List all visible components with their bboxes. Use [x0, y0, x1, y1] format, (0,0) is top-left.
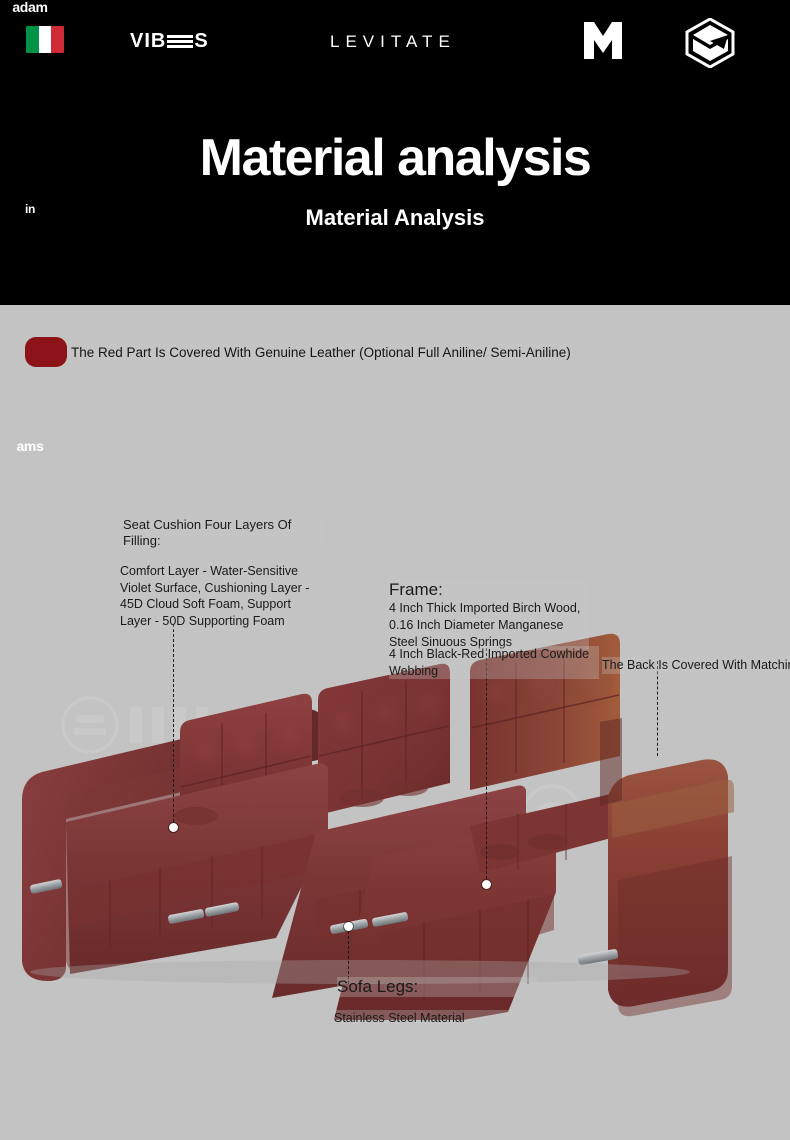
callout-dot-legs — [344, 922, 353, 931]
annotation-sofa-legs-heading-text: Sofa Legs: — [337, 977, 537, 997]
legend-label: The Red Part Is Covered With Genuine Lea… — [69, 344, 573, 361]
annotation-sofa-legs-body-text: Stainless Steel Material — [334, 1010, 534, 1027]
callout-dot-cushion — [169, 823, 178, 832]
annotation-sofa-legs: Sofa Legs: — [337, 977, 537, 997]
annotation-seat-cushion-body: Comfort Layer - Water-Sensitive Violet S… — [120, 563, 312, 630]
annotation-back-covering-text: The Back Is Covered With Matching — [602, 657, 790, 674]
annotation-webbing: 4 Inch Black-Red Imported Cowhide Webbin… — [389, 646, 599, 679]
italy-flag-icon — [26, 26, 64, 53]
leader-line-back — [657, 661, 658, 756]
adam-logo-line2: in — [0, 203, 60, 439]
annotation-frame: Frame: 4 Inch Thick Imported Birch Wood,… — [389, 580, 589, 650]
material-analysis-page: VIB S LEVITATE adam in — [0, 0, 790, 1140]
annotation-frame-body-text: 4 Inch Thick Imported Birch Wood, 0.16 I… — [389, 600, 589, 650]
vibes-logo-text-left: VIB — [130, 30, 166, 53]
leader-line-frame — [486, 648, 487, 884]
annotation-seat-cushion-heading: Seat Cushion Four Layers Of Filling: — [123, 517, 323, 550]
annotation-seat-cushion-body-text: Comfort Layer - Water-Sensitive Violet S… — [120, 563, 312, 630]
brand-logo-row: VIB S LEVITATE — [0, 0, 790, 80]
adam-in-ams-logo: adam in ams — [0, 0, 60, 534]
legend-color-swatch — [25, 337, 67, 367]
leader-line-legs — [348, 926, 349, 984]
vibes-logo-text-right: S — [194, 30, 208, 53]
gem-logo — [684, 18, 736, 68]
product-diagram — [0, 460, 790, 1020]
legend: The Red Part Is Covered With Genuine Lea… — [25, 337, 573, 367]
page-title: Material analysis — [0, 128, 790, 188]
m-monogram-logo — [584, 22, 622, 59]
page-subtitle: Material Analysis — [0, 205, 790, 231]
vibes-logo-bars-icon — [167, 35, 193, 48]
callout-dot-frame — [482, 880, 491, 889]
page-header: VIB S LEVITATE adam in — [0, 0, 790, 305]
levitate-logo: LEVITATE — [330, 32, 456, 52]
annotation-frame-heading-text: Frame: — [389, 580, 589, 600]
sofa-illustration — [0, 460, 790, 1020]
vibes-logo: VIB S — [130, 30, 209, 52]
annotation-webbing-text: 4 Inch Black-Red Imported Cowhide Webbin… — [389, 646, 599, 679]
leader-line-cushion — [173, 624, 174, 827]
annotation-back-covering: The Back Is Covered With Matching — [602, 657, 790, 674]
annotation-sofa-legs-body: Stainless Steel Material — [334, 1010, 534, 1027]
annotation-seat-cushion-heading-text: Seat Cushion Four Layers Of Filling: — [123, 517, 323, 550]
